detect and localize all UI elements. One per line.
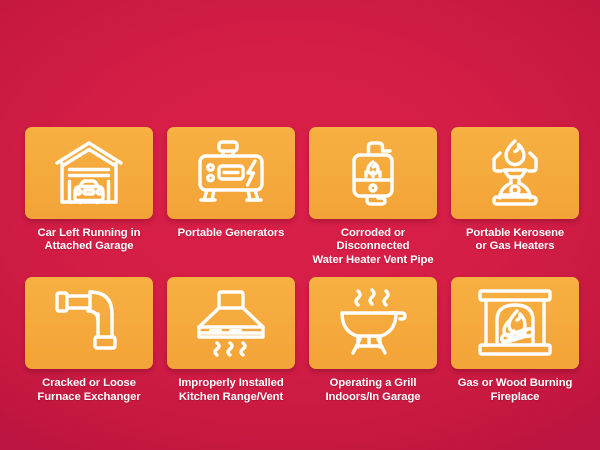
tile-kitchen-range-vent[interactable]: [167, 277, 295, 369]
hazard-item-kitchen-range-vent[interactable]: Improperly Installed Kitchen Range/Vent: [167, 277, 295, 404]
hazard-caption: Car Left Running in Attached Garage: [38, 227, 141, 254]
charcoal-grill-icon: [334, 287, 412, 359]
furnace-pipe-elbow-icon: [52, 287, 126, 359]
hazard-caption: Operating a Grill Indoors/In Garage: [326, 377, 421, 404]
hazard-caption: Portable Kerosene or Gas Heaters: [466, 227, 564, 254]
hazard-caption: Portable Generators: [178, 227, 285, 240]
fireplace-icon: [475, 287, 555, 359]
tile-fireplace[interactable]: [451, 277, 579, 369]
hazard-item-grill-indoors[interactable]: Operating a Grill Indoors/In Garage: [309, 277, 437, 404]
portable-generator-icon: [193, 138, 269, 208]
garage-car-icon: [51, 138, 127, 208]
hazard-item-car-in-garage[interactable]: Car Left Running in Attached Garage: [25, 127, 153, 267]
hazard-item-kerosene-heater[interactable]: Portable Kerosene or Gas Heaters: [451, 127, 579, 267]
hazard-item-water-heater-vent[interactable]: Corroded or Disconnected Water Heater Ve…: [309, 127, 437, 267]
hazard-caption: Improperly Installed Kitchen Range/Vent: [178, 377, 283, 404]
hazard-caption: Corroded or Disconnected Water Heater Ve…: [309, 227, 437, 267]
kitchen-range-hood-icon: [191, 287, 271, 359]
hazard-tile-grid: Car Left Running in Attached Garage: [25, 127, 575, 404]
hazard-item-fireplace[interactable]: Gas or Wood Burning Fireplace: [451, 277, 579, 404]
water-heater-vent-icon: [337, 136, 409, 210]
tile-grill-indoors[interactable]: [309, 277, 437, 369]
hazard-item-furnace-exchanger[interactable]: Cracked or Loose Furnace Exchanger: [25, 277, 153, 404]
tile-furnace-exchanger[interactable]: [25, 277, 153, 369]
hazard-caption: Gas or Wood Burning Fireplace: [458, 377, 573, 404]
tile-kerosene-heater[interactable]: [451, 127, 579, 219]
hazard-item-portable-generators[interactable]: Portable Generators: [167, 127, 295, 267]
tile-water-heater-vent[interactable]: [309, 127, 437, 219]
hazard-caption: Cracked or Loose Furnace Exchanger: [37, 377, 140, 404]
infographic-canvas: Car Left Running in Attached Garage: [0, 0, 600, 450]
kerosene-heater-icon: [478, 137, 552, 209]
tile-portable-generators[interactable]: [167, 127, 295, 219]
tile-car-in-garage[interactable]: [25, 127, 153, 219]
